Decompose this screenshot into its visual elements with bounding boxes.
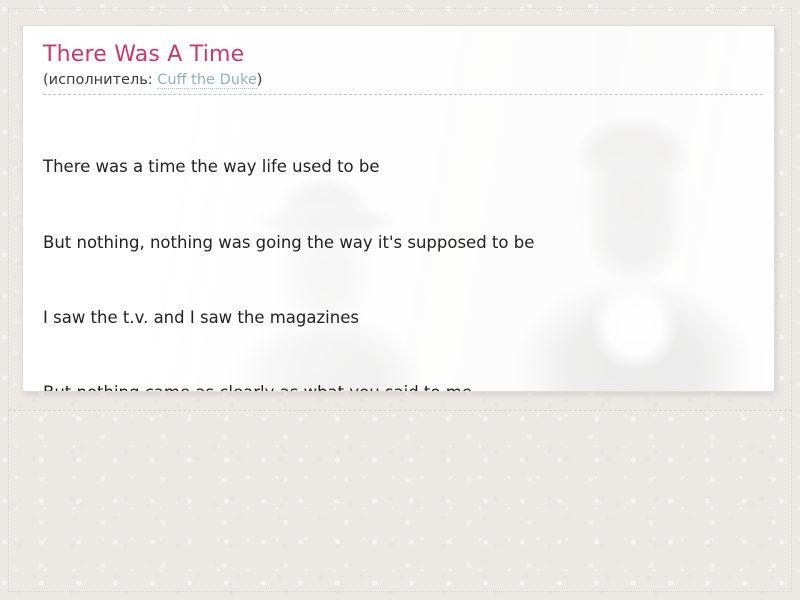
page-title: There Was A Time [43, 43, 754, 68]
artist-link[interactable]: Cuff the Duke [157, 72, 256, 89]
artist-suffix-label: ) [257, 72, 263, 88]
lyric-line: I saw the t.v. and I saw the magazines [43, 305, 754, 330]
artist-credit: (исполнитель: Cuff the Duke) [43, 71, 754, 91]
lyric-line: But nothing, nothing was going the way i… [43, 230, 754, 255]
header-divider [43, 94, 763, 95]
lyrics-body: There was a time the way life used to be… [43, 104, 754, 392]
section-divider [8, 410, 792, 411]
lyric-line: But nothing came as clearly as what you … [43, 380, 754, 392]
card-content: There Was A Time (исполнитель: Cuff the … [23, 26, 774, 392]
artist-prefix-label: (исполнитель: [43, 72, 157, 88]
lyric-line: There was a time the way life used to be [43, 154, 754, 179]
lyrics-card: There Was A Time (исполнитель: Cuff the … [22, 25, 775, 392]
